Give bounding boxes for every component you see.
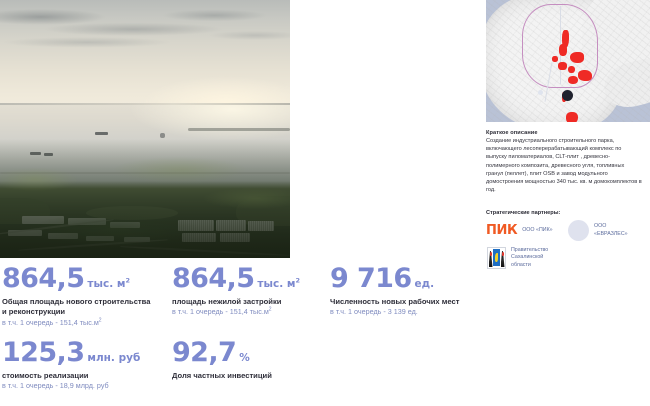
stat-value-row: 9 716ед. <box>330 264 459 294</box>
partner-pik[interactable]: ПИК ООО «ПИК» <box>486 224 553 237</box>
slide-root: Краткое описание Создание индустриальног… <box>0 0 650 406</box>
photo-sailboat <box>160 133 165 138</box>
stat-sub: в т.ч. 1 очередь - 151,4 тыс.м2 <box>172 307 300 317</box>
stat-value-row: 864,5тыс. м2 <box>172 264 300 294</box>
hero-photo <box>0 0 290 258</box>
map-zone <box>570 52 584 63</box>
photo-distant-spit <box>188 128 290 131</box>
stat-number: 92,7 <box>172 338 236 368</box>
stat-unit: млн. руб <box>87 353 140 364</box>
stat-sub: в т.ч. 1 очередь - 3 139 ед. <box>330 307 459 317</box>
map-zone <box>566 112 578 122</box>
stat-implementation-cost: 125,3млн. руб стоимость реализации в т.ч… <box>2 338 140 391</box>
stat-number: 125,3 <box>2 338 84 368</box>
stat-label: площадь нежилой застройки <box>172 297 300 307</box>
partner-label: ООО «ЕВРАЗЛЕС» <box>594 223 628 238</box>
partner-label: ООО «ПИК» <box>522 227 552 234</box>
partners-title: Стратегические партнеры: <box>486 210 560 216</box>
stat-value-row: 92,7% <box>172 338 272 368</box>
stat-label: стоимость реализации <box>2 371 140 381</box>
map-zone <box>558 62 567 70</box>
sakhalin-emblem-icon <box>487 247 506 269</box>
photo-ship <box>95 132 108 135</box>
map-zone <box>568 66 575 73</box>
stat-value-row: 864,5тыс. м2 <box>2 264 154 294</box>
map-zone <box>568 76 578 84</box>
map-zone <box>552 56 558 62</box>
description-title: Краткое описание <box>486 130 650 136</box>
map-location-marker[interactable] <box>562 90 573 101</box>
stat-label: Численность новых рабочих мест <box>330 297 459 307</box>
stat-number: 9 716 <box>330 264 412 294</box>
map-zone <box>578 70 592 81</box>
stats-section: 864,5тыс. м2 Общая площадь нового строит… <box>0 258 486 406</box>
stat-new-jobs-count: 9 716ед. Численность новых рабочих мест … <box>330 264 459 317</box>
stat-number: 864,5 <box>2 264 84 294</box>
stat-total-new-construction-area: 864,5тыс. м2 Общая площадь нового строит… <box>2 264 154 328</box>
map-secondary-marker <box>538 90 543 95</box>
stat-label: Доля частных инвестиций <box>172 371 272 381</box>
stat-value-row: 125,3млн. руб <box>2 338 140 368</box>
region-map[interactable] <box>486 0 650 122</box>
right-info-panel: Краткое описание Создание индустриальног… <box>486 130 650 194</box>
photo-horizon <box>0 103 290 105</box>
stat-sub: в т.ч. 1 очередь - 18,9 млрд. руб <box>2 381 140 391</box>
stat-sub: в т.ч. 1 очередь - 151,4 тыс.м2 <box>2 318 154 328</box>
partner-label: Правительство Сахалинской области <box>511 247 548 269</box>
stat-unit: % <box>239 353 250 364</box>
pik-logo-icon: ПИК <box>486 224 517 237</box>
partner-sakhalin-government[interactable]: Правительство Сахалинской области <box>487 247 548 269</box>
description-body: Создание индустриального строительного п… <box>486 137 643 194</box>
photo-forest-foreground <box>0 139 290 258</box>
stat-number: 864,5 <box>172 264 254 294</box>
partner-evrazles[interactable]: ООО «ЕВРАЗЛЕС» <box>568 220 628 241</box>
photo-clouds <box>0 0 290 77</box>
stat-unit: ед. <box>415 279 435 290</box>
map-zone <box>559 44 567 56</box>
stat-unit: тыс. м2 <box>87 279 130 290</box>
stat-unit: тыс. м2 <box>257 279 300 290</box>
stat-label: Общая площадь нового строительства и рек… <box>2 297 154 318</box>
stat-private-investment-share: 92,7% Доля частных инвестиций <box>172 338 272 381</box>
evrazles-logo-icon <box>568 220 589 241</box>
stat-non-residential-built-area: 864,5тыс. м2 площадь нежилой застройки в… <box>172 264 300 317</box>
